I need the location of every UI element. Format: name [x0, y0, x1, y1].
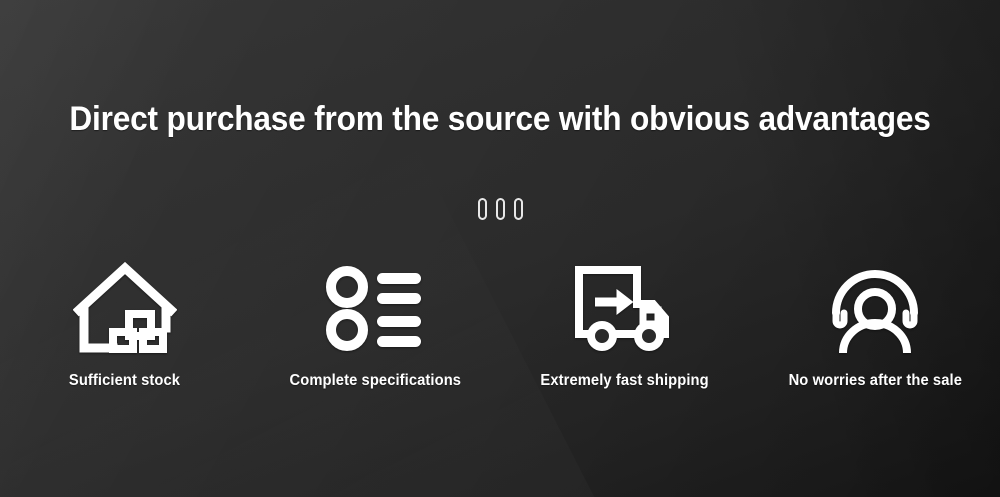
feature-item-sufficient-stock: Sufficient stock: [0, 258, 250, 390]
promo-banner: Direct purchase from the source with obv…: [0, 0, 1000, 497]
delivery-truck-icon: [570, 258, 680, 358]
three-pill-divider: [0, 198, 1000, 220]
feature-item-after-sale: No worries after the sale: [750, 258, 1000, 390]
feature-list: Sufficient stock Complete specifications: [0, 258, 1000, 390]
feature-label: Complete specifications: [289, 372, 461, 390]
page-title: Direct purchase from the source with obv…: [35, 100, 965, 139]
specification-list-icon: [320, 258, 430, 358]
feature-item-fast-shipping: Extremely fast shipping: [500, 258, 750, 390]
divider-pill-2: [496, 198, 505, 220]
feature-label: Extremely fast shipping: [541, 372, 709, 390]
headset-support-icon: [820, 258, 930, 358]
divider-pill-1: [478, 198, 487, 220]
divider-pill-3: [514, 198, 523, 220]
feature-label: No worries after the sale: [788, 372, 961, 390]
feature-label: Sufficient stock: [69, 372, 180, 390]
feature-item-complete-specifications: Complete specifications: [250, 258, 500, 390]
warehouse-stock-icon: [70, 258, 180, 358]
